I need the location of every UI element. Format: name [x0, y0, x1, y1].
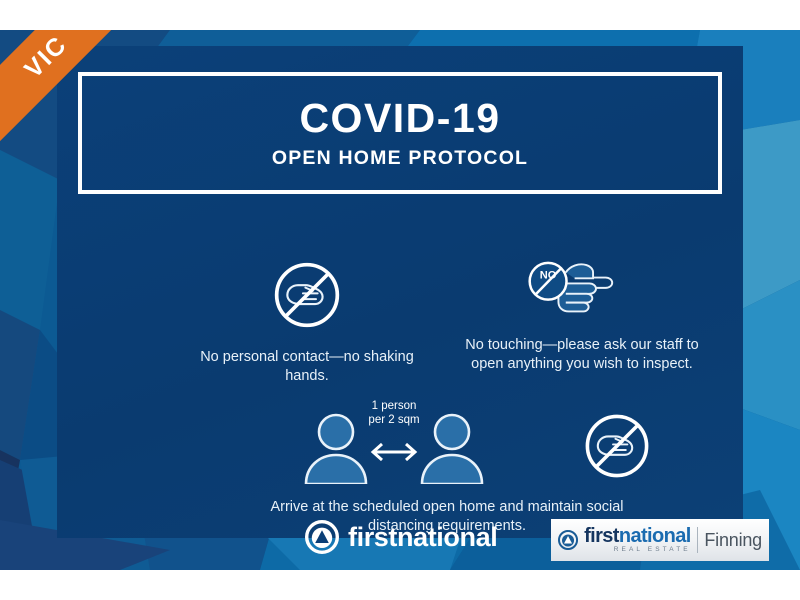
agency-logo-wordmark: firstnational — [584, 526, 691, 546]
agency-logo: firstnational REAL ESTATE Finning — [551, 519, 769, 561]
protocol-item-no-contact: No personal contact—no shaking hands. — [197, 254, 417, 386]
person-left-icon — [306, 415, 366, 484]
distance-arrow-icon — [373, 444, 415, 460]
page-subtitle: OPEN HOME PROTOCOL — [272, 149, 528, 169]
agency-logo-subtitle: REAL ESTATE — [584, 547, 691, 554]
no-badge-label: NO — [540, 269, 557, 281]
protocol-caption: No personal contact—no shaking hands. — [197, 348, 417, 386]
poster: COVID-19 OPEN HOME PROTOCOL No personal … — [0, 30, 800, 570]
distance-label-line1: 1 person — [372, 400, 417, 412]
title-frame: COVID-19 OPEN HOME PROTOCOL — [78, 72, 722, 194]
protocol-caption: No touching—please ask our staff to open… — [457, 336, 707, 374]
no-touching-hand-icon: NO — [523, 254, 641, 324]
person-right-icon — [422, 415, 482, 484]
protocol-item-no-touching: NO No touching—please ask our staff to o… — [457, 254, 707, 374]
agency-logo-national: national — [619, 525, 691, 547]
page-title: COVID-19 — [299, 98, 500, 139]
no-handshake-icon — [577, 406, 657, 486]
agency-logo-first: first — [584, 525, 619, 547]
icon-row — [197, 254, 417, 336]
main-panel: COVID-19 OPEN HOME PROTOCOL No personal … — [57, 46, 743, 538]
icon-row: 1 person per 2 sqm — [237, 406, 657, 486]
footer: firstnational firstnational REAL ESTATE … — [0, 512, 800, 570]
distance-label-line2: per 2 sqm — [368, 414, 419, 426]
primary-logo: firstnational — [305, 520, 497, 554]
agency-office-name: Finning — [704, 530, 762, 551]
agency-logo-brand: firstnational REAL ESTATE — [584, 526, 691, 554]
distance-label: 1 person per 2 sqm — [368, 400, 419, 428]
primary-logo-text: firstnational — [348, 522, 497, 553]
firstnational-mark-icon — [558, 524, 578, 556]
logo-divider — [697, 527, 698, 553]
social-distancing-icon: 1 person per 2 sqm — [294, 406, 494, 484]
no-handshake-icon — [266, 254, 348, 336]
firstnational-mark-icon — [305, 520, 339, 554]
icon-row: NO — [457, 254, 707, 324]
